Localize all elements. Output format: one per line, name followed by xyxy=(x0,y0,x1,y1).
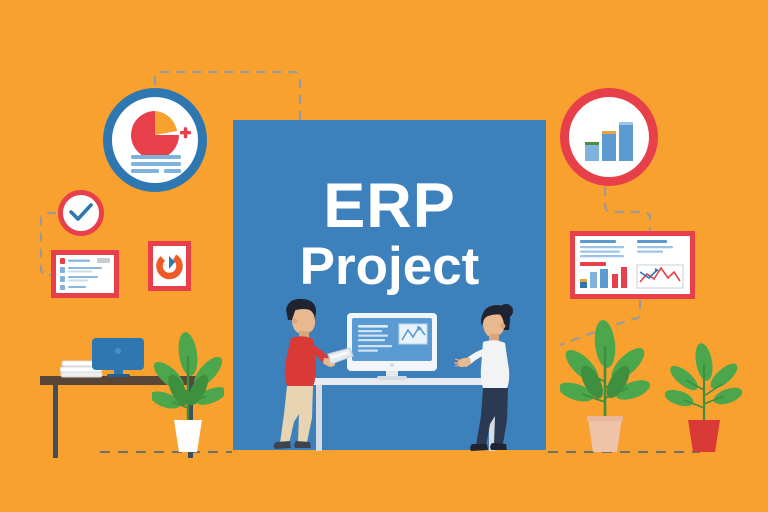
potted-plant-desk xyxy=(152,332,224,454)
desk-leg-left xyxy=(53,385,58,458)
desktop-monitor-center xyxy=(347,313,437,381)
dashboard-card xyxy=(570,231,695,299)
list-document-icon xyxy=(56,255,114,293)
bar-chart-icon xyxy=(569,97,649,177)
presentation-pie-badge xyxy=(103,88,207,192)
donut-refresh-icon xyxy=(153,246,186,286)
donut-chart-card xyxy=(148,241,191,291)
potted-plant-small xyxy=(665,340,743,455)
checkmark-badge xyxy=(58,190,104,236)
person-colleague-right xyxy=(440,300,540,456)
potted-plant-large xyxy=(560,320,650,455)
check-icon xyxy=(63,195,99,231)
illustration-canvas: ERP Project xyxy=(0,0,768,512)
person-presenter-left xyxy=(258,296,358,456)
pie-chart-plus-icon xyxy=(112,97,198,183)
dashboard-report-icon xyxy=(575,236,690,294)
desktop-monitor-on-desk xyxy=(90,338,150,378)
dashed-connector-right xyxy=(605,187,650,231)
task-list-card xyxy=(51,250,119,298)
bar-chart-badge xyxy=(560,88,658,186)
